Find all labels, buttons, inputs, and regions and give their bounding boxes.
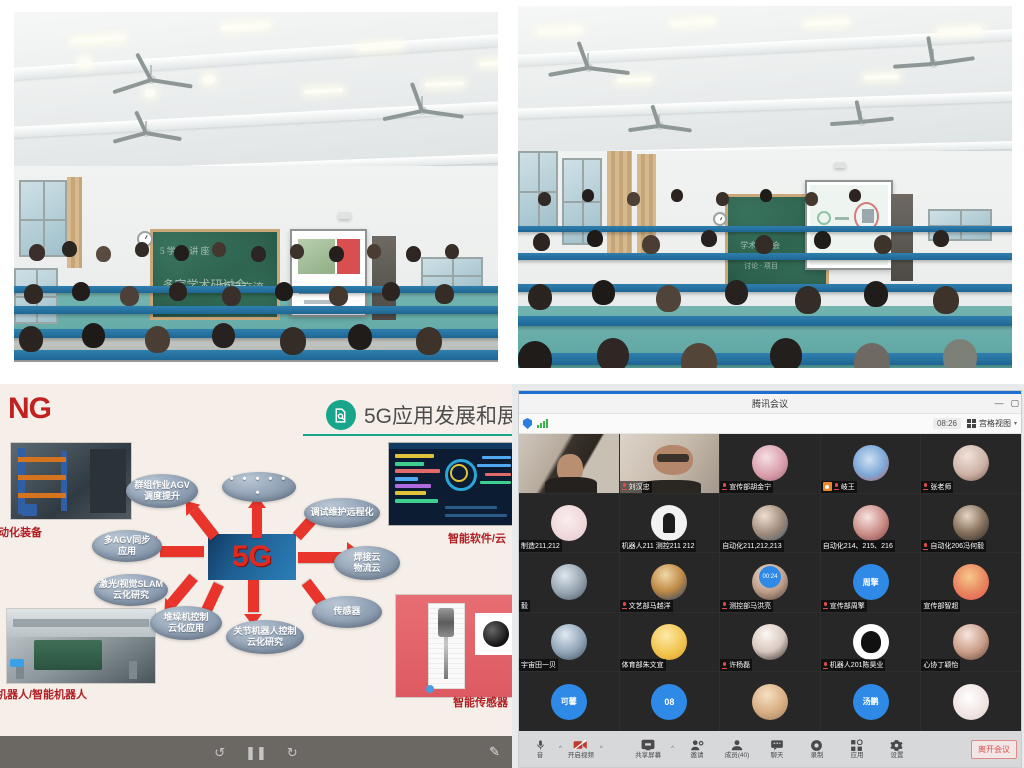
ceiling-fan-icon: [627, 115, 691, 139]
security-shield-icon[interactable]: [523, 418, 532, 429]
apps-button[interactable]: 应用: [840, 739, 874, 760]
chat-label: 聊天: [770, 753, 783, 760]
label-smart-sensor: 智能传感器: [453, 694, 508, 710]
classroom-photo-front: 5 学 术 讲 座 多家学术研讨会 项目交流: [0, 0, 512, 384]
record-circle-icon: [810, 739, 823, 752]
participant-name-badge: 体育部朱文宣: [620, 659, 666, 671]
members-button[interactable]: 成员(40): [720, 739, 754, 760]
monitor-icon: [641, 739, 655, 752]
participant-name-badge: 测控部马洪亮: [720, 600, 773, 612]
members-label: 成员(40): [725, 753, 750, 760]
leave-meeting-button[interactable]: 离开会议: [971, 740, 1017, 759]
participant-tile[interactable]: 自动化206冯何毅: [921, 494, 1021, 553]
robot-photo: [6, 608, 156, 684]
label-smart-software-cloud: 智能软件/云: [448, 530, 506, 546]
warehouse-photo: [10, 442, 132, 520]
participant-name-badge: 文艺部马越洋: [620, 600, 673, 612]
hub-5g-label: 5G: [232, 540, 272, 574]
tencent-meeting-window: 腾讯会议 — ▢ 08:26 宫格视图 ▾: [512, 384, 1024, 768]
initials-avatar: 汤鹏: [853, 684, 889, 720]
document-search-icon: [326, 400, 356, 430]
participant-tile[interactable]: 可馨: [519, 672, 619, 731]
participant-tile[interactable]: 文艺部马越洋: [620, 553, 720, 612]
view-mode-label: 宫格视图: [979, 418, 1011, 429]
participant-name-badge: 宣传部周擎: [821, 600, 867, 612]
ceiling-fan-icon: [111, 121, 181, 147]
chat-bubble-icon: [770, 739, 784, 752]
participant-tile[interactable]: 体育部朱文宣: [620, 613, 720, 672]
host-badge-icon: [823, 482, 832, 491]
start-video-button[interactable]: 开启视频: [564, 739, 598, 760]
minimize-button[interactable]: —: [994, 399, 1003, 408]
participant-tile[interactable]: 制造211,212: [519, 494, 619, 553]
participant-name-badge: 自动化211,212,213: [720, 540, 783, 552]
apps-label: 应用: [850, 753, 863, 760]
ceiling-fan-icon: [893, 49, 973, 79]
pencil-icon[interactable]: ✎: [489, 744, 500, 760]
participant-tile[interactable]: [921, 672, 1021, 731]
participant-tile[interactable]: 08: [620, 672, 720, 731]
participant-name-badge: 刘汉忠: [620, 481, 652, 493]
ng-logo: NG: [8, 392, 51, 426]
hub-5g: 5G: [208, 534, 296, 580]
label-automation-equipment: 动化装备: [0, 524, 42, 540]
participant-tile[interactable]: 周擎 宣传部周擎: [821, 553, 921, 612]
apps-grid-icon: [850, 739, 863, 752]
mic-muted-icon: [823, 662, 828, 669]
participant-name-badge: 机器人201陈昊业: [821, 659, 886, 671]
bubble-joint-robot-cloud: 关节机器人控制 云化研究: [226, 620, 304, 654]
chevron-up-icon[interactable]: ^: [600, 746, 603, 752]
bubble-remote-maintenance: 调试维护远程化: [304, 498, 380, 528]
ceiling: [14, 12, 498, 177]
mic-muted-icon: [722, 662, 727, 669]
participant-name-badge: 毅: [519, 600, 530, 612]
people-icon: [730, 739, 744, 752]
bubble-multi-agv: 多AGV同步 应用: [92, 530, 162, 562]
camera-off-icon: [573, 739, 588, 752]
participant-name-badge: 宣传部胡金宁: [720, 481, 773, 493]
title-underline: [303, 434, 512, 436]
students-audience: [14, 187, 498, 362]
participant-tile[interactable]: 宣传部智超: [921, 553, 1021, 612]
participant-grid: 刘汉忠 宣传部胡金宁 岐王: [519, 434, 1021, 731]
speaking-timer-badge: 00:24: [759, 566, 781, 588]
slide-title-group: 5G应用发展和展: [326, 400, 512, 430]
app-title: 腾讯会议: [752, 397, 788, 410]
settings-button[interactable]: 设置: [880, 739, 914, 760]
participant-tile[interactable]: 机器人211 测控211 212: [620, 494, 720, 553]
record-label: 录制: [810, 753, 823, 760]
signal-bars-icon[interactable]: [537, 419, 548, 428]
slide-title: 5G应用发展和展: [364, 400, 512, 430]
sensor-photo: [395, 594, 512, 698]
ceiling-fan-icon: [111, 65, 191, 95]
participant-name-badge: 宇宙田一贝: [519, 659, 558, 671]
initials-avatar: 可馨: [551, 684, 587, 720]
photo-collage: 5 学 术 讲 座 多家学术研讨会 项目交流: [0, 0, 1024, 768]
ceiling-fan-icon: [548, 53, 628, 83]
participant-name-badge: 许杨磊: [720, 659, 752, 671]
chevron-down-icon: ▾: [1014, 420, 1017, 427]
participant-name-badge: 自动化206冯何毅: [921, 540, 986, 552]
bubble-agv-scheduling: 群组作业AGV 调度提升: [126, 474, 198, 508]
forward-button[interactable]: ↻: [287, 746, 298, 759]
mic-muted-icon: [923, 483, 928, 490]
classroom-photo-audience: 学术交流会 讨论 · 项目: [512, 0, 1024, 384]
participant-tile[interactable]: 宣传部胡金宁: [720, 434, 820, 493]
mic-muted-icon: [923, 543, 928, 550]
rewind-10-button[interactable]: ↺: [214, 746, 225, 759]
participant-tile[interactable]: 宇宙田一贝: [519, 613, 619, 672]
chat-button[interactable]: 聊天: [760, 739, 794, 760]
participant-tile[interactable]: 岐王: [821, 434, 921, 493]
participant-tile[interactable]: 许杨磊: [720, 613, 820, 672]
participant-name-badge: 心协丁颖怡: [921, 659, 960, 671]
participant-tile[interactable]: 张老师: [921, 434, 1021, 493]
mic-muted-icon: [722, 483, 727, 490]
title-bar: 腾讯会议 — ▢: [519, 394, 1021, 414]
mic-muted-icon: [622, 602, 627, 609]
maximize-button[interactable]: ▢: [1010, 399, 1019, 408]
students-audience: [518, 144, 1012, 368]
participant-name-badge: 张老师: [921, 481, 953, 493]
participant-name-badge: 宣传部智超: [921, 600, 960, 612]
view-mode-switcher[interactable]: 宫格视图 ▾: [967, 418, 1017, 429]
invite-button[interactable]: 邀请: [680, 739, 714, 760]
bubble-stacker-cloud: 堆垛机控制 云化应用: [150, 606, 222, 640]
mic-muted-icon: [823, 602, 828, 609]
participant-tile[interactable]: 自动化211,212,213: [720, 494, 820, 553]
participant-name-badge: 制造211,212: [519, 540, 562, 552]
record-button[interactable]: 录制: [800, 739, 834, 760]
elapsed-time: 08:26: [933, 418, 961, 429]
label-robot-intelligent-robot: 机器人/智能机器人: [0, 686, 87, 702]
pause-button[interactable]: ❚❚: [245, 746, 267, 759]
participant-tile[interactable]: 00:24 测控部马洪亮: [720, 553, 820, 612]
microphone-icon: [535, 739, 546, 752]
participant-tile[interactable]: [519, 434, 619, 493]
participant-tile[interactable]: [720, 672, 820, 731]
mic-muted-icon: [622, 483, 627, 490]
mic-muted-icon: [722, 602, 727, 609]
initials-avatar: 08: [651, 684, 687, 720]
bubble-welding-cloud: 焊接云 物流云: [334, 546, 400, 580]
meeting-toolbar: 音 ^ 开启视频 ^: [519, 731, 1021, 767]
bubble-slam-cloud: 激光/视觉SLAM 云化研究: [94, 574, 168, 606]
participant-tile[interactable]: 自动化214、215、216: [821, 494, 921, 553]
participant-tile[interactable]: 汤鹏: [821, 672, 921, 731]
meeting-status-bar: 08:26 宫格视图 ▾: [519, 414, 1021, 434]
presentation-slide: NG 5G应用发展和展: [0, 384, 512, 768]
participant-name-badge: 岐王: [821, 481, 857, 493]
settings-label: 设置: [890, 753, 903, 760]
chevron-up-icon[interactable]: ^: [559, 746, 562, 752]
chevron-up-icon[interactable]: ^: [671, 746, 674, 752]
ceiling-fan-icon: [829, 111, 893, 135]
dashboard-photo: [388, 442, 512, 526]
participant-tile[interactable]: 毅: [519, 553, 619, 612]
share-screen-button[interactable]: 共享屏幕: [631, 739, 665, 760]
grid-view-icon: [967, 419, 976, 428]
audio-label: 音: [537, 753, 544, 760]
ceiling-fan-icon: [382, 96, 462, 126]
participant-tile[interactable]: 心协丁颖怡: [921, 613, 1021, 672]
video-label: 开启视频: [568, 753, 594, 760]
participant-tile[interactable]: 刘汉忠: [620, 434, 720, 493]
share-screen-label: 共享屏幕: [635, 753, 661, 760]
bubble-dots: • • • • • •: [222, 472, 296, 502]
person-add-icon: [690, 739, 704, 752]
mic-muted-icon: [834, 483, 839, 490]
participant-name-badge: 自动化214、215、216: [821, 540, 895, 552]
slide-playback-controls[interactable]: ↺ ❚❚ ↻ ✎: [0, 736, 512, 768]
audio-button[interactable]: 音: [523, 739, 557, 760]
invite-label: 邀请: [690, 753, 703, 760]
arrow-up: [248, 496, 266, 538]
gear-icon: [890, 739, 903, 752]
participant-tile[interactable]: 机器人201陈昊业: [821, 613, 921, 672]
bubble-sensor: 传感器: [312, 596, 382, 628]
initials-avatar: 周擎: [853, 564, 889, 600]
participant-name-badge: 机器人211 测控211 212: [620, 540, 697, 552]
